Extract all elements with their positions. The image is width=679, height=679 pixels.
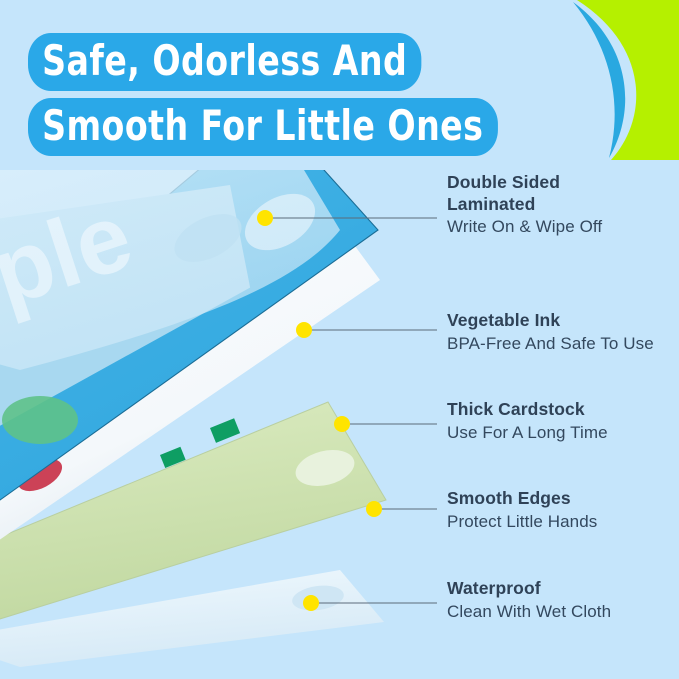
callout-title: Vegetable Ink — [447, 310, 679, 332]
green-card — [0, 402, 386, 622]
connector-4 — [366, 501, 437, 517]
callout-thick-cardstock: Thick Cardstock Use For A Long Time — [447, 399, 679, 444]
page-title: Safe, Odorless And Smooth For Little One… — [28, 33, 588, 156]
callout-double-sided-laminated: Double Sided Laminated Write On & Wipe O… — [447, 172, 679, 238]
callout-subtitle: BPA-Free And Safe To Use — [447, 333, 679, 355]
callout-title: Thick Cardstock — [447, 399, 679, 421]
overlay-sheet — [0, 170, 340, 370]
connector-1 — [257, 210, 437, 226]
pale-bottom-card — [0, 570, 384, 667]
callout-subtitle: Protect Little Hands — [447, 511, 679, 533]
connector-3 — [334, 416, 437, 432]
white-card — [0, 185, 380, 560]
callout-subtitle: Write On & Wipe Off — [447, 216, 679, 238]
callout-dot-4 — [366, 501, 382, 517]
flash-card-stack-illustration: pple — [0, 170, 400, 670]
green-corner-shape — [577, 0, 679, 160]
card-word-text: pple — [0, 182, 144, 345]
callout-title-line-2: Laminated — [447, 194, 679, 216]
callout-smooth-edges: Smooth Edges Protect Little Hands — [447, 488, 679, 533]
callout-dot-2 — [296, 322, 312, 338]
connector-2 — [296, 322, 437, 338]
callout-dot-5 — [303, 595, 319, 611]
callout-title: Waterproof — [447, 578, 679, 600]
callout-subtitle: Clean With Wet Cloth — [447, 601, 679, 623]
callout-waterproof: Waterproof Clean With Wet Cloth — [447, 578, 679, 623]
headline-line-2: Smooth For Little Ones — [28, 98, 498, 156]
callout-title: Smooth Edges — [447, 488, 679, 510]
infographic-canvas: pple Safe, Odorless And Smooth For Littl… — [0, 0, 679, 679]
callout-subtitle: Use For A Long Time — [447, 422, 679, 444]
callout-dot-1 — [257, 210, 273, 226]
callout-title-line-1: Double Sided — [447, 172, 679, 194]
connector-5 — [303, 595, 437, 611]
blue-card — [0, 170, 378, 500]
light-blue-card: pple — [0, 170, 300, 470]
headline-line-1: Safe, Odorless And — [28, 33, 421, 91]
callout-dot-3 — [334, 416, 350, 432]
callout-title: Double Sided Laminated — [447, 172, 679, 215]
callout-vegetable-ink: Vegetable Ink BPA-Free And Safe To Use — [447, 310, 679, 355]
